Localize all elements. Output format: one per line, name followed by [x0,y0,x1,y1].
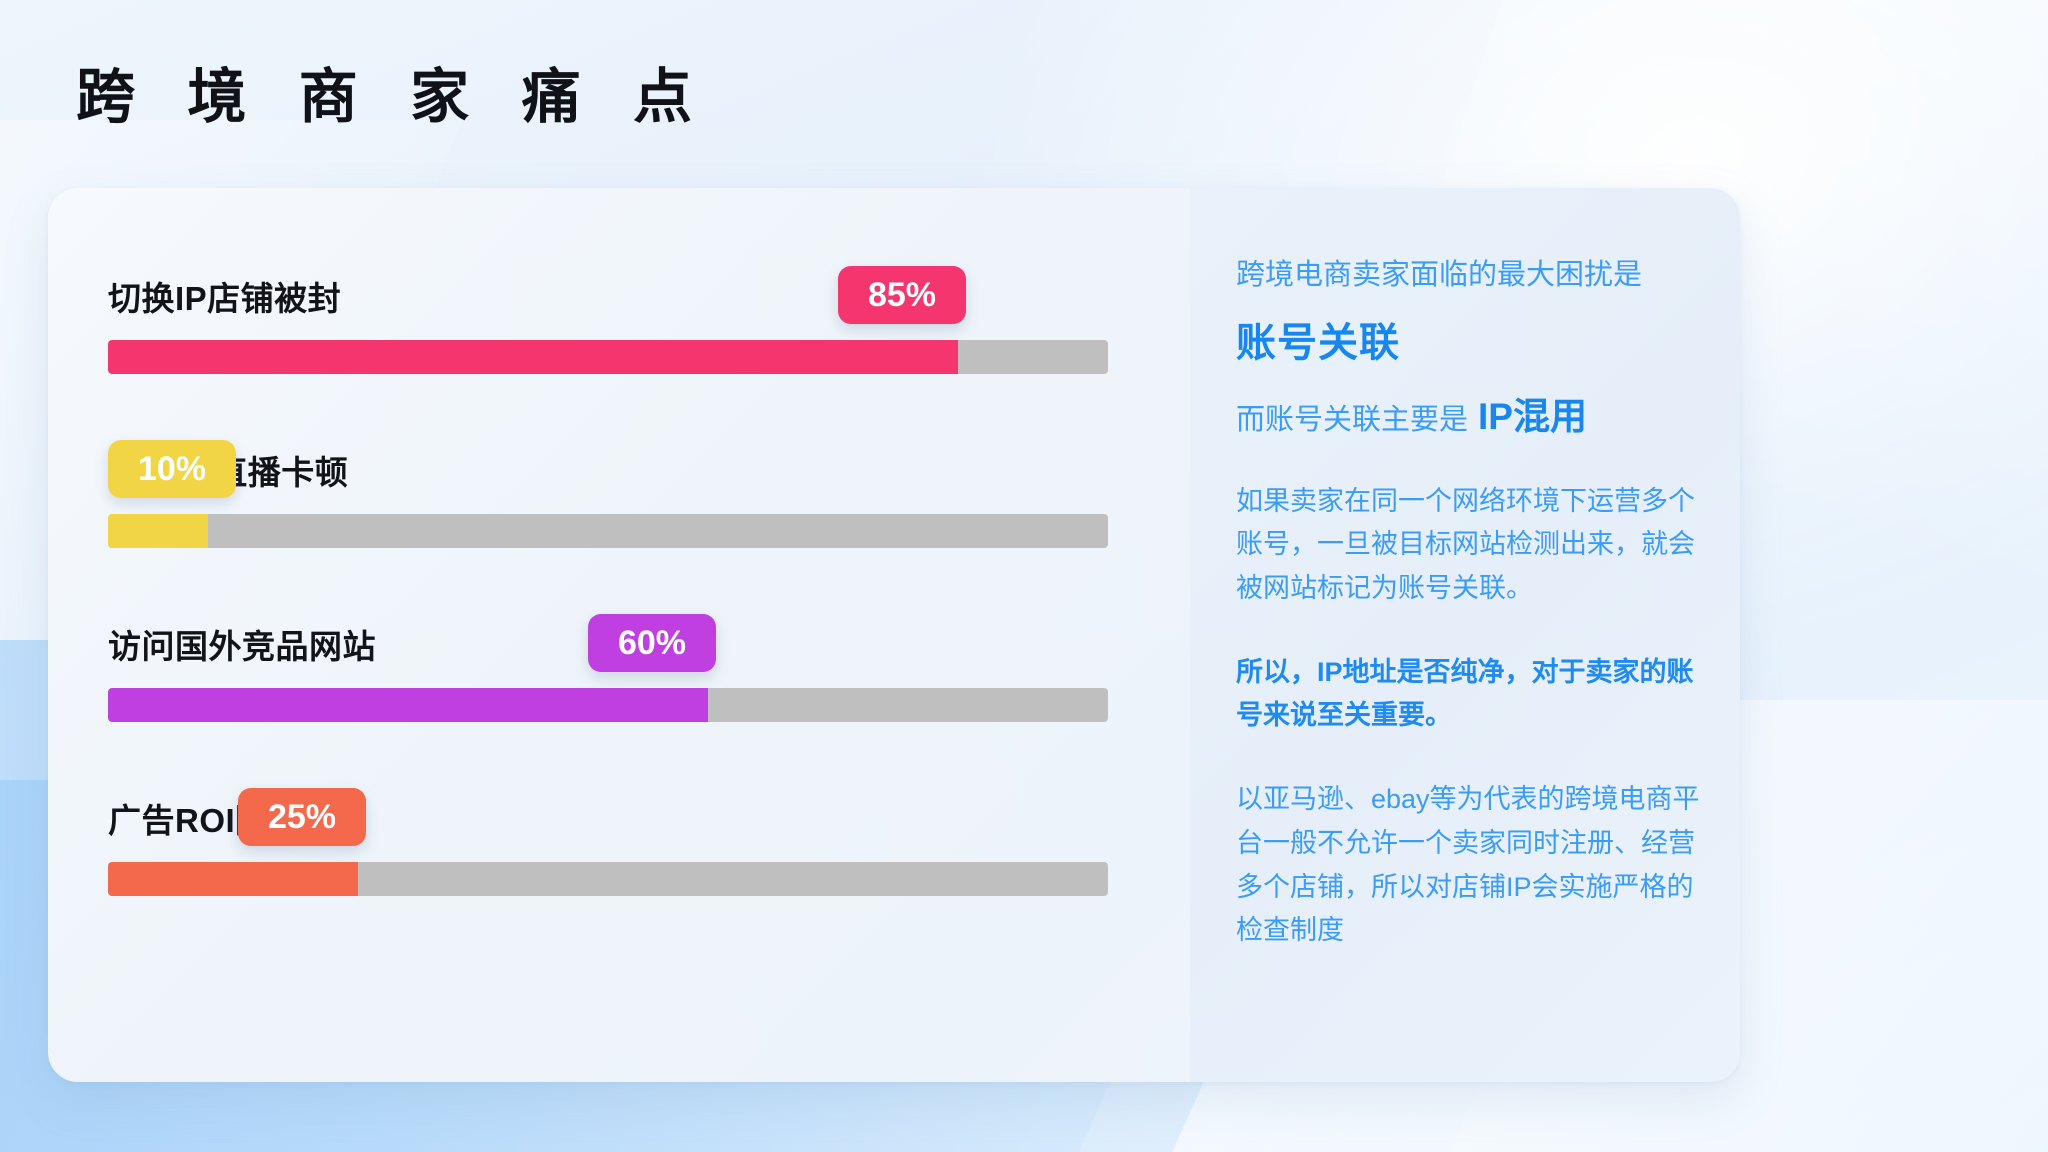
bar-label: 访问国外竞品网站 [108,620,376,668]
panel-subline-highlight: IP混用 [1478,386,1587,440]
page-title: 跨 境 商 家 痛 点 [76,68,710,127]
panel-lead-text: 跨境电商卖家面临的最大困扰是 [1236,254,1704,298]
bar-value-badge: 10% [108,440,236,498]
bar-value-badge: 60% [588,614,716,672]
panel-paragraph-2: 所以，IP地址是否纯净，对于卖家的账号来说至关重要。 [1236,651,1704,738]
panel-subline: 而账号关联主要是 IP混用 [1236,386,1704,440]
bar-row: 切换IP店铺被封 85% [108,260,1190,374]
bar-track [108,688,1108,722]
bar-fill [108,340,958,374]
description-panel: 跨境电商卖家面临的最大困扰是 账号关联 而账号关联主要是 IP混用 如果卖家在同… [1190,188,1740,1082]
bar-header: 广告ROI降低 25% [108,782,1190,854]
bar-value-badge: 85% [838,266,966,324]
bar-chart-panel: 切换IP店铺被封 85% TikTok直播卡顿 10% 访问国外竞品网站 60% [48,188,1190,1082]
bar-fill [108,862,358,896]
panel-headline: 账号关联 [1236,310,1704,368]
bar-fill [108,514,208,548]
bar-track [108,340,1108,374]
bar-label: 切换IP店铺被封 [108,272,341,320]
bar-header: 切换IP店铺被封 85% [108,260,1190,332]
panel-subline-prefix: 而账号关联主要是 [1236,396,1468,438]
bar-row: 访问国外竞品网站 60% [108,608,1190,722]
bar-row: TikTok直播卡顿 10% [108,434,1190,548]
bar-header: 访问国外竞品网站 60% [108,608,1190,680]
bar-row: 广告ROI降低 25% [108,782,1190,896]
bar-header: TikTok直播卡顿 10% [108,434,1190,506]
bar-track [108,862,1108,896]
content-card: 切换IP店铺被封 85% TikTok直播卡顿 10% 访问国外竞品网站 60% [48,188,1740,1082]
panel-paragraph-3: 以亚马逊、ebay等为代表的跨境电商平台一般不允许一个卖家同时注册、经营多个店铺… [1236,778,1704,953]
bar-value-badge: 25% [238,788,366,846]
panel-paragraph-1: 如果卖家在同一个网络环境下运营多个账号，一旦被目标网站检测出来，就会被网站标记为… [1236,480,1704,611]
bar-fill [108,688,708,722]
bar-track [108,514,1108,548]
